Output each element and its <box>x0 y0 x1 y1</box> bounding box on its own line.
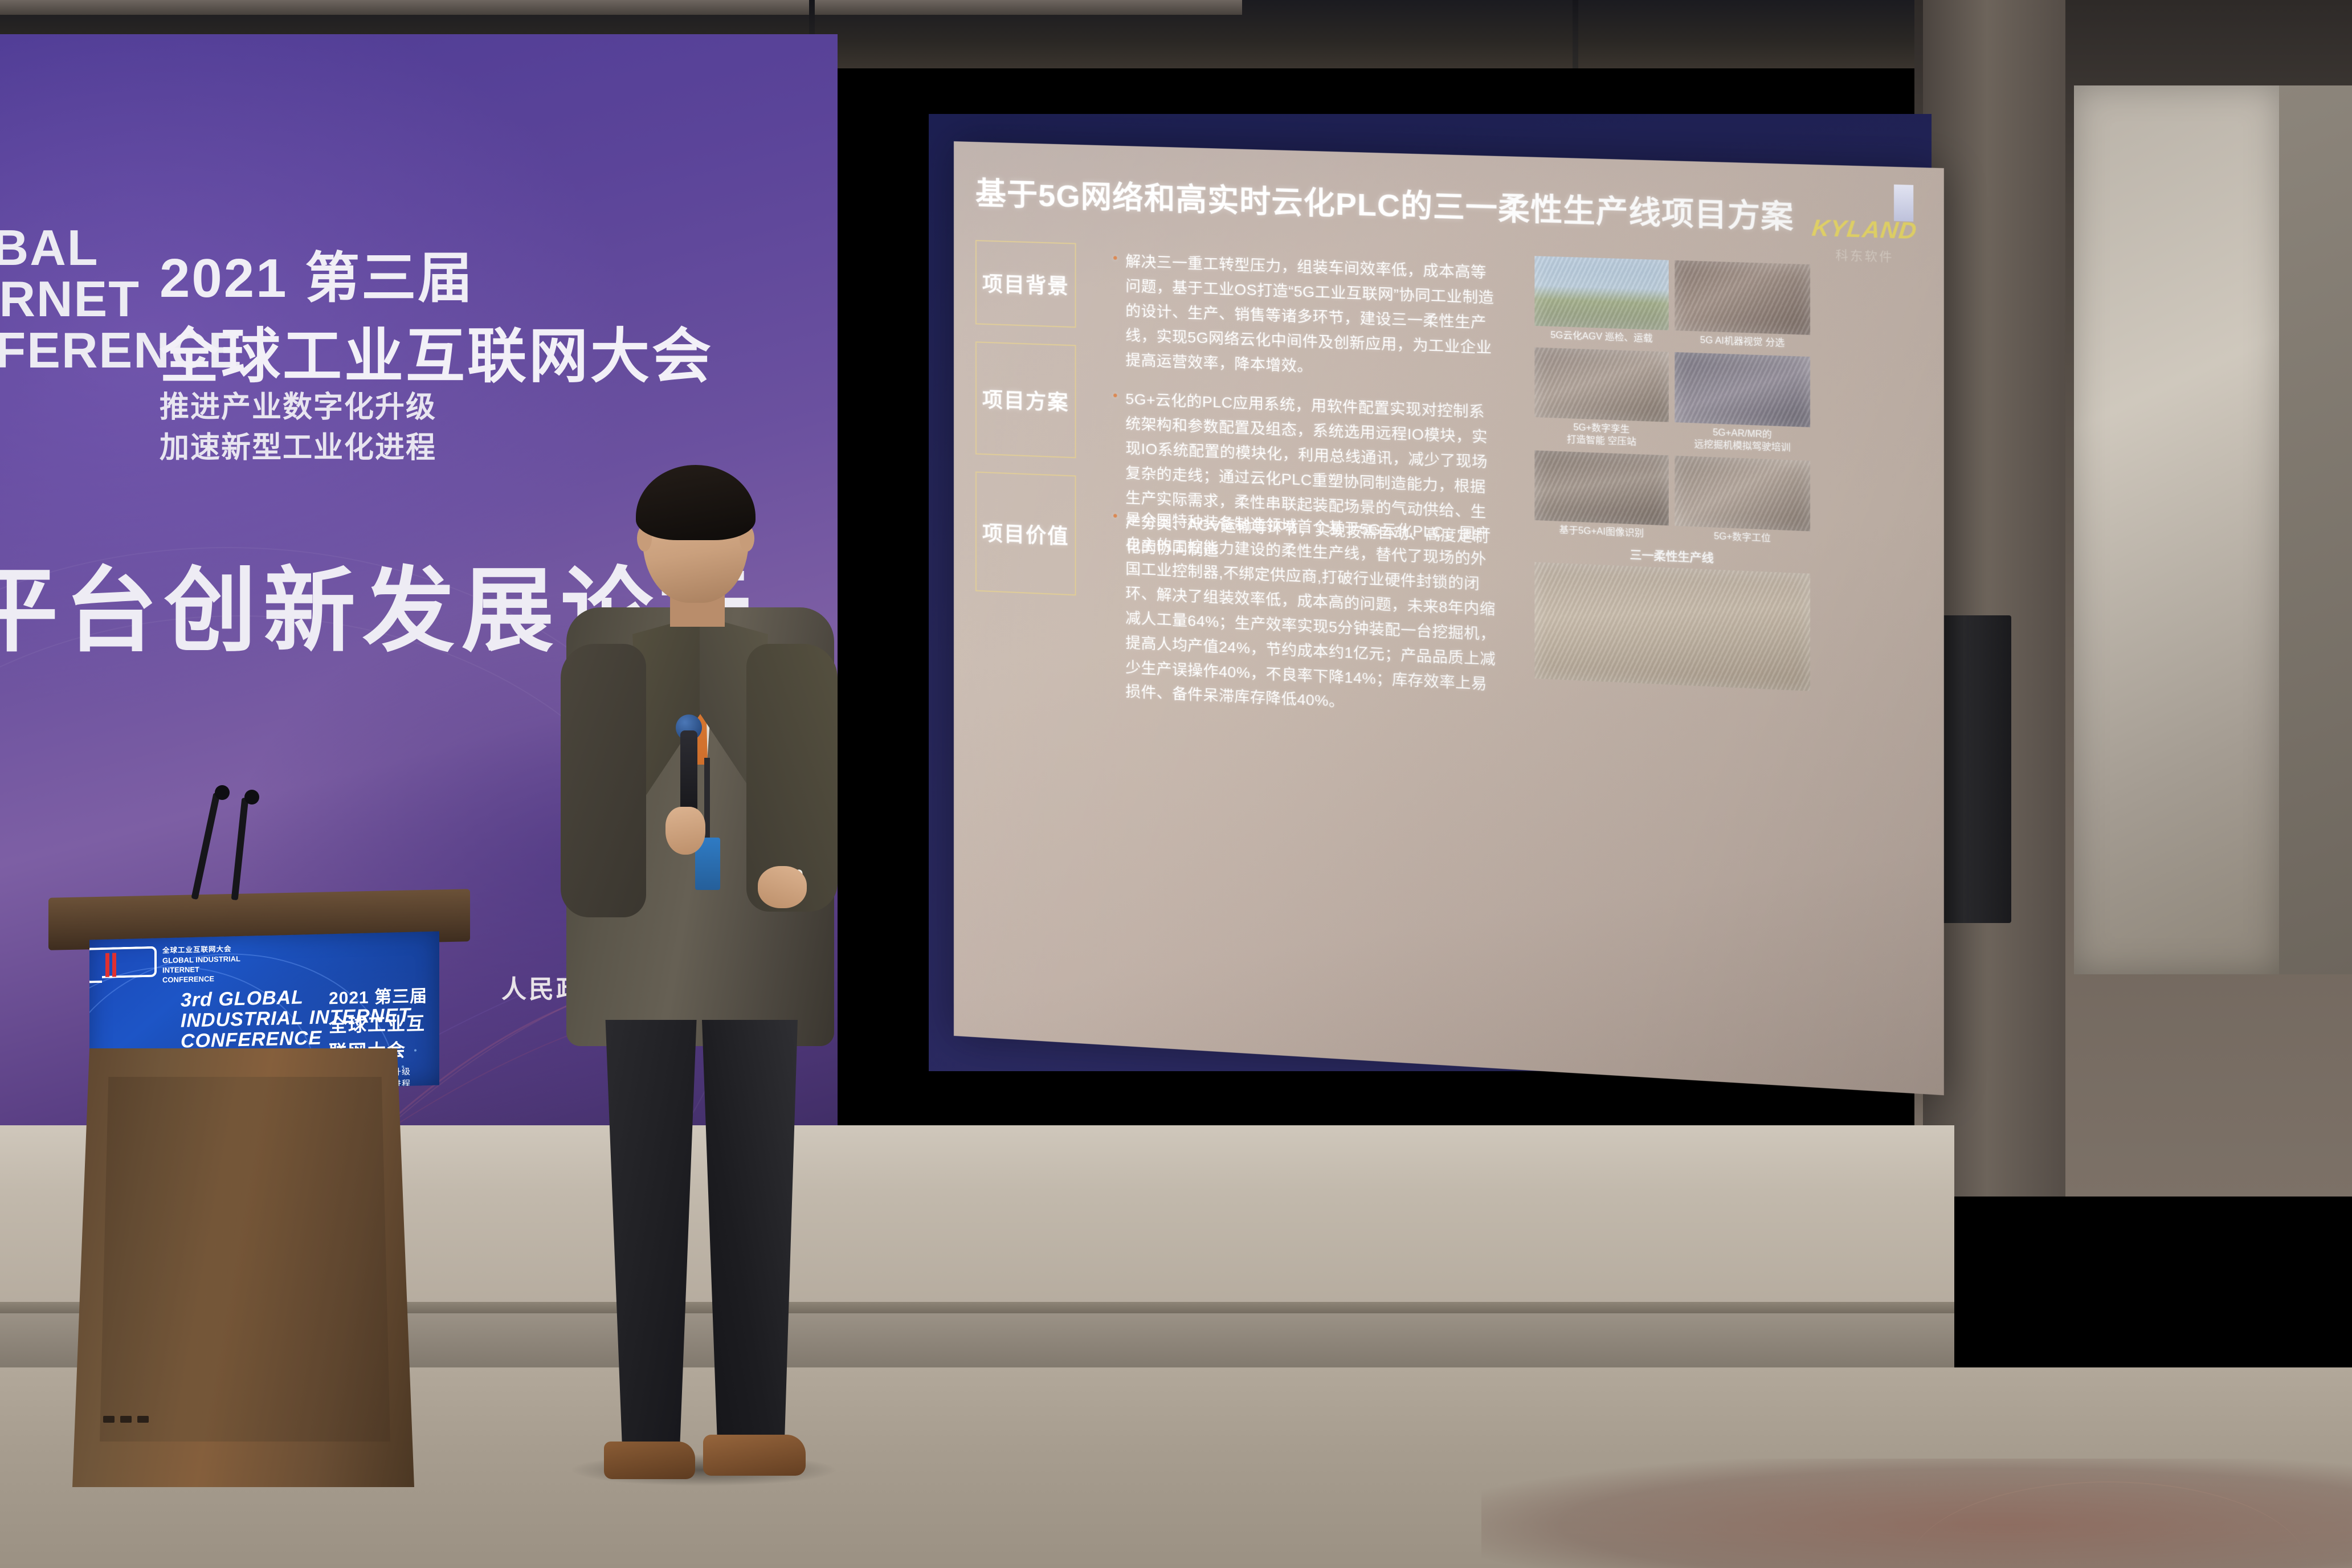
ceiling-light-strip <box>0 0 1242 15</box>
slide-title: 基于5G网络和高实时云化PLC的三一柔性生产线项目方案 <box>975 168 1815 238</box>
photo-caption: 5G AI机器视觉 分选 <box>1675 334 1810 350</box>
presenter-shoe-left <box>604 1442 695 1479</box>
backdrop-subtitle: 推进产业数字化升级 加速新型工业化进程 <box>160 387 436 468</box>
giic-bars-icon <box>105 953 116 977</box>
presenter-leg-left <box>595 1020 701 1453</box>
section-body-background: 解决三一重工转型压力，组装车间效率低，成本高等问题，基于工业OS打造“5G工业互… <box>1125 249 1499 385</box>
backdrop-subtitle-line: 推进产业数字化升级 <box>160 387 436 428</box>
photo-caption: 5G+AR/MR的 远挖掘机模拟驾驶培训 <box>1675 426 1810 455</box>
presenter-hair <box>636 465 756 540</box>
wall-glass-panel <box>2074 85 2279 974</box>
wall-glass-panel-edge <box>2279 85 2352 974</box>
agv-road-photo <box>1534 256 1668 330</box>
giic-logo: 全球工业互联网大会 GLOBAL INDUSTRIAL INTERNET CON… <box>102 944 240 986</box>
photo-caption: 5G+数字工位 <box>1675 529 1810 547</box>
ar-mr-training-photo <box>1675 352 1810 427</box>
ai-image-recognition-photo <box>1534 451 1668 526</box>
section-label-plan: 项目方案 <box>975 341 1076 458</box>
kyland-mark-icon <box>1894 185 1913 222</box>
compressor-station-photo <box>1534 347 1668 422</box>
giic-mark-icon <box>102 946 157 978</box>
photo-caption: 5G云化AGV 巡检、运载 <box>1534 329 1668 346</box>
presenter-hand-left <box>665 807 705 855</box>
section-body-value: 是全国特种装备制造领域首个基于5G云化PLC，国产自主的工控能力建设的柔性生产线… <box>1125 507 1499 722</box>
machine-rack-photo <box>1675 260 1810 335</box>
lectern-controls[interactable] <box>103 1416 149 1423</box>
photo-row <box>1534 256 1810 335</box>
presenter <box>547 473 900 1533</box>
wall-pillar <box>1923 0 2065 1197</box>
presentation-slide: 基于5G网络和高实时云化PLC的三一柔性生产线项目方案 KYLAND 科东软件 … <box>954 141 1944 1095</box>
photo-caption: 5G+数字孪生 打造智能 空压站 <box>1534 420 1668 450</box>
presenter-legs <box>595 1020 811 1464</box>
presenter-hand-right <box>758 866 807 908</box>
presenter-leg-right <box>695 1020 809 1459</box>
projection-screen-area: 基于5G网络和高实时云化PLC的三一柔性生产线项目方案 KYLAND 科东软件 … <box>929 114 1932 1083</box>
digital-workstation-photo <box>1675 456 1810 532</box>
photo-caption-row: 5G+数字孪生 打造智能 空压站 5G+AR/MR的 远挖掘机模拟驾驶培训 <box>1534 420 1810 455</box>
microphone-head <box>215 785 230 800</box>
lectern-front-panel <box>100 1077 390 1442</box>
backdrop-english-line: CONFERENCE <box>0 325 125 376</box>
microphone-head <box>244 790 259 805</box>
slide-photo-grid: 5G云化AGV 巡检、运载 5G AI机器视觉 分选 5G+数字孪生 打造智能 … <box>1534 256 1810 691</box>
presenter-arm-left <box>561 644 646 917</box>
section-label-background: 项目背景 <box>975 240 1076 328</box>
backdrop-main-title: 全球工业互联网大会 <box>160 308 713 394</box>
backdrop-english-line: GLOBAL <box>0 222 125 273</box>
presenter-shoe-right <box>703 1435 806 1476</box>
giic-logo-text: 全球工业互联网大会 GLOBAL INDUSTRIAL INTERNET CON… <box>162 944 240 985</box>
backdrop-english-line: INTERNET <box>0 273 125 325</box>
section-label-value: 项目价值 <box>975 471 1076 595</box>
kyland-brand: KYLAND 科东软件 <box>1812 215 1917 266</box>
lectern-sign-year: 2021 第三届 <box>329 981 439 1009</box>
lectern: 全球工业互联网大会 GLOBAL INDUSTRIAL INTERNET CON… <box>48 866 470 1487</box>
giic-logo-en-line: CONFERENCE <box>162 973 240 985</box>
kyland-logo: KYLAND <box>1811 215 1918 245</box>
photo-row <box>1534 451 1810 532</box>
backdrop-subtitle-line: 加速新型工业化进程 <box>160 428 436 468</box>
photo-caption: 基于5G+AI图像识别 <box>1534 524 1668 542</box>
flexible-production-line-photo <box>1534 562 1810 691</box>
conference-stage-scene: GLOBAL INTERNET CONFERENCE 2021 第三届 全球工业… <box>0 0 2352 1568</box>
giic-logo-en-line: GLOBAL INDUSTRIAL <box>162 954 240 966</box>
kyland-logo-cn: 科东软件 <box>1812 245 1917 266</box>
photo-row <box>1534 347 1810 427</box>
handheld-microphone-body <box>680 730 697 816</box>
backdrop-year-line: 2021 第三届 <box>160 234 474 313</box>
backdrop-english-block: GLOBAL INTERNET CONFERENCE <box>0 222 125 375</box>
ceiling-seam <box>1573 0 1578 68</box>
